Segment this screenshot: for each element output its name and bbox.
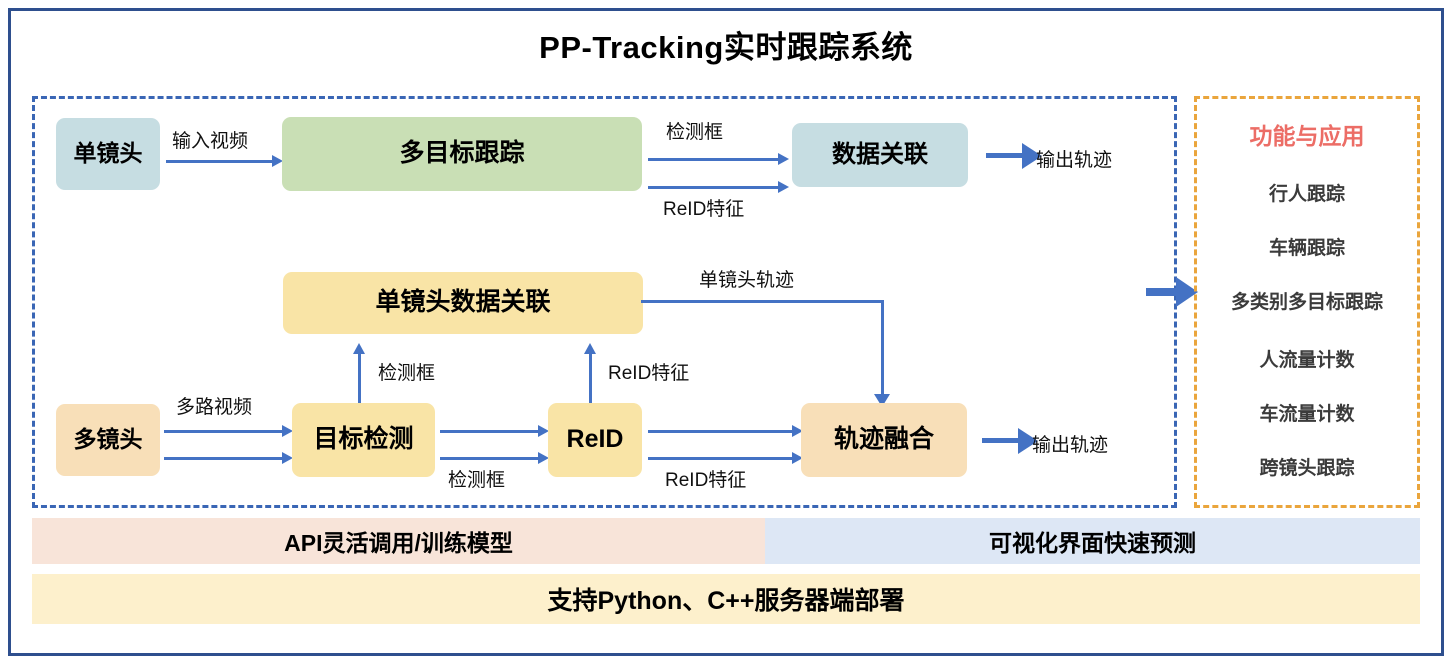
node-reid-label: ReID — [567, 426, 624, 454]
bar-api[interactable]: API灵活调用/训练模型 — [32, 518, 765, 564]
bar-deploy-label: 支持Python、C++服务器端部署 — [548, 581, 905, 617]
connector-detection-to-reid-1 — [440, 430, 540, 433]
arrowhead-reid-up — [584, 343, 596, 354]
bar-visual[interactable]: 可视化界面快速预测 — [765, 518, 1420, 564]
node-single-camera[interactable]: 单镜头 — [56, 118, 160, 190]
connector-tracker-detect-box — [648, 158, 780, 161]
node-data-association-label: 数据关联 — [832, 142, 928, 168]
output-label-multi-track: 输出轨迹 — [1032, 430, 1108, 457]
edge-label-detect-box-top: 检测框 — [666, 117, 723, 144]
node-multi-object-tracking-label: 多目标跟踪 — [399, 140, 524, 168]
node-data-association[interactable]: 数据关联 — [792, 123, 968, 187]
node-single-camera-label: 单镜头 — [74, 141, 143, 166]
page-title: PP-Tracking实时跟踪系统 — [0, 22, 1452, 67]
bar-deploy[interactable]: 支持Python、C++服务器端部署 — [32, 574, 1420, 624]
node-multi-object-tracking[interactable]: 多目标跟踪 — [282, 117, 642, 191]
diagram-root: PP-Tracking实时跟踪系统 单镜头 输入视频 多目标跟踪 检测框 ReI… — [0, 0, 1452, 664]
connector-single-track-v — [881, 300, 884, 400]
edge-label-detect-box-up: 检测框 — [378, 358, 435, 385]
node-trajectory-fusion-label: 轨迹融合 — [834, 426, 934, 454]
edge-label-reid-feature-up: ReID特征 — [608, 358, 689, 385]
app-item-3[interactable]: 人流量计数 — [1197, 345, 1417, 372]
connector-detection-to-reid-2 — [440, 457, 540, 460]
node-object-detection-label: 目标检测 — [313, 426, 413, 454]
node-multi-camera[interactable]: 多镜头 — [56, 404, 160, 476]
edge-label-multi-video: 多路视频 — [176, 392, 252, 419]
arrowhead-tracker-detect-box — [778, 153, 789, 165]
bar-visual-label: 可视化界面快速预测 — [989, 524, 1196, 558]
connector-assoc-output — [986, 153, 1024, 158]
connector-reid-up — [589, 352, 592, 408]
apps-panel-title: 功能与应用 — [1197, 117, 1417, 151]
connector-single-to-tracker — [166, 160, 274, 163]
app-item-1[interactable]: 车辆跟踪 — [1197, 233, 1417, 260]
edge-label-single-track: 单镜头轨迹 — [699, 265, 794, 292]
connector-pipeline-to-apps — [1146, 288, 1180, 296]
node-reid[interactable]: ReID — [548, 403, 642, 477]
apps-panel: 功能与应用 行人跟踪 车辆跟踪 多类别多目标跟踪 人流量计数 车流量计数 跨镜头… — [1194, 96, 1420, 508]
connector-multi-to-detection-2 — [164, 457, 284, 460]
connector-reid-to-fusion-1 — [648, 430, 794, 433]
node-object-detection[interactable]: 目标检测 — [292, 403, 435, 477]
connector-fusion-output — [982, 438, 1020, 443]
arrowhead-detection-up — [353, 343, 365, 354]
node-single-camera-association-label: 单镜头数据关联 — [375, 289, 550, 317]
bar-api-label: API灵活调用/训练模型 — [284, 524, 513, 558]
connector-tracker-reid — [648, 186, 780, 189]
app-item-4[interactable]: 车流量计数 — [1197, 399, 1417, 426]
edge-label-input-video: 输入视频 — [172, 126, 248, 153]
arrowhead-tracker-reid — [778, 181, 789, 193]
edge-label-reid-feature-mid: ReID特征 — [665, 465, 746, 492]
edge-label-detect-box-mid: 检测框 — [448, 465, 505, 492]
output-label-single-track: 输出轨迹 — [1036, 145, 1112, 172]
node-trajectory-fusion[interactable]: 轨迹融合 — [801, 403, 967, 477]
connector-multi-to-detection-1 — [164, 430, 284, 433]
edge-label-reid-feature-top: ReID特征 — [663, 194, 744, 221]
node-multi-camera-label: 多镜头 — [74, 427, 143, 452]
connector-detection-up — [358, 352, 361, 408]
app-item-0[interactable]: 行人跟踪 — [1197, 179, 1417, 206]
connector-reid-to-fusion-2 — [648, 457, 794, 460]
node-single-camera-association[interactable]: 单镜头数据关联 — [283, 272, 643, 334]
connector-single-track-h — [641, 300, 884, 303]
app-item-2[interactable]: 多类别多目标跟踪 — [1197, 287, 1417, 314]
app-item-5[interactable]: 跨镜头跟踪 — [1197, 453, 1417, 480]
